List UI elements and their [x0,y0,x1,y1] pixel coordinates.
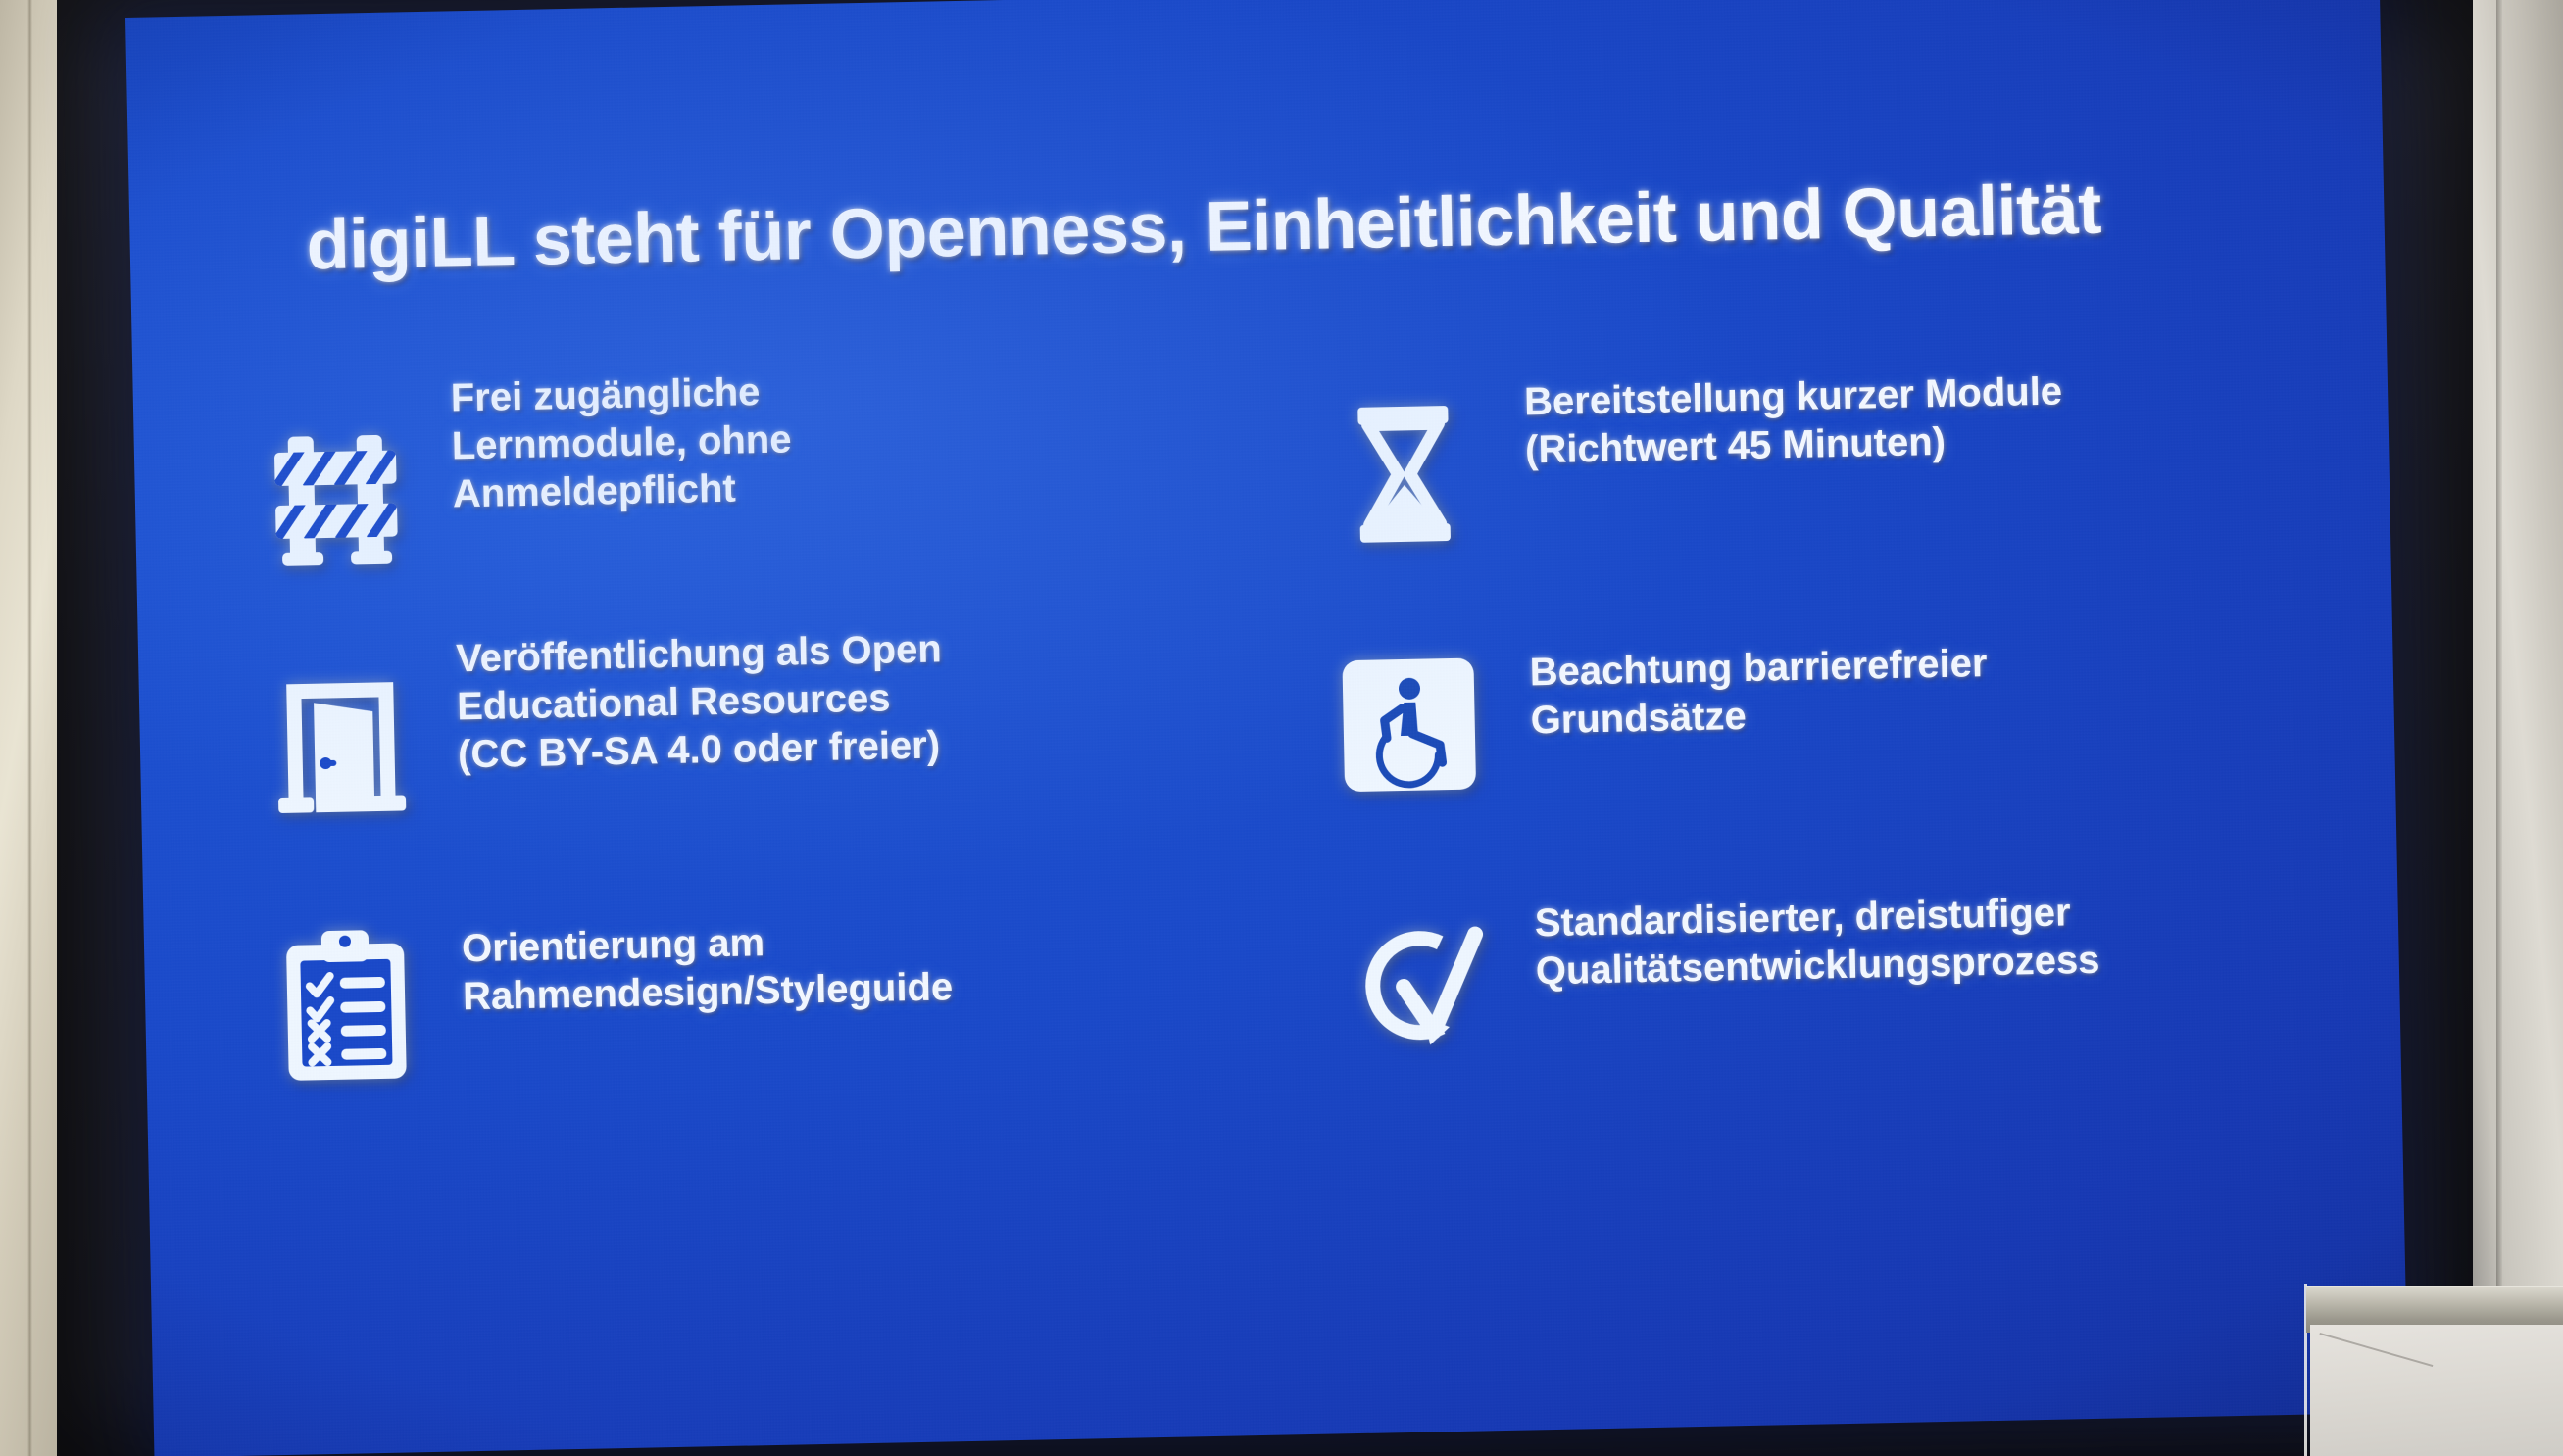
slide-title: digiLL steht für Openness, Einheitlichke… [306,166,2267,285]
clipboard-checklist-icon [262,920,431,1090]
feature-item-kurze-module: Bereitstellung kurzer Module (Richtwert … [1313,322,2293,587]
feature-item-text: Orientierung am Rahmendesign/Styleguide [461,864,1239,1020]
wheelchair-accessibility-icon [1319,640,1499,810]
feature-item-text: Bereitstellung kurzer Module (Richtwert … [1523,322,2292,474]
flipchart-foreground [2300,1274,2563,1456]
wall-right-strip [2473,0,2563,1456]
open-door-icon [256,661,425,831]
feature-item-open-educational-resources: Veröffentlichung als Open Educational Re… [255,604,1235,868]
wall-left-seam [27,0,32,1456]
cycle-check-icon [1324,898,1503,1069]
feature-item-text: Beachtung barrierefreier Grundsätze [1528,583,2296,745]
feature-item-qualitaetsentwicklungsprozess: Standardisierter, dreistufiger Qualitäts… [1324,844,2304,1108]
road-barrier-icon [251,411,420,580]
hourglass-icon [1314,389,1494,559]
feature-item-text: Standardisierter, dreistufiger Qualitäts… [1534,844,2302,995]
room-photo-scene: digiLL steht für Openness, Einheitlichke… [0,0,2563,1456]
wall-right-seam [2496,0,2502,1456]
feature-item-text: Frei zugängliche Lernmodule, ohne Anmeld… [450,344,1228,518]
feature-item-rahmendesign-styleguide: Orientierung am Rahmendesign/Styleguide [261,864,1241,1129]
presentation-slide: digiLL steht für Openness, Einheitlichke… [125,0,2408,1456]
feature-item-frei-zugaengliche-lernmodule: Frei zugängliche Lernmodule, ohne Anmeld… [250,344,1230,608]
wall-left-strip [0,0,61,1456]
slide-content: digiLL steht für Openness, Einheitlichke… [125,0,2408,1456]
projected-slide-wrapper: digiLL steht für Openness, Einheitlichke… [125,0,2408,1456]
feature-item-text: Veröffentlichung als Open Educational Re… [455,604,1233,778]
feature-grid: Frei zugängliche Lernmodule, ohne Anmeld… [250,322,2303,1130]
flipchart-paper [2310,1325,2563,1456]
feature-item-barrierefreiheit: Beachtung barrierefreier Grundsätze [1318,583,2298,848]
